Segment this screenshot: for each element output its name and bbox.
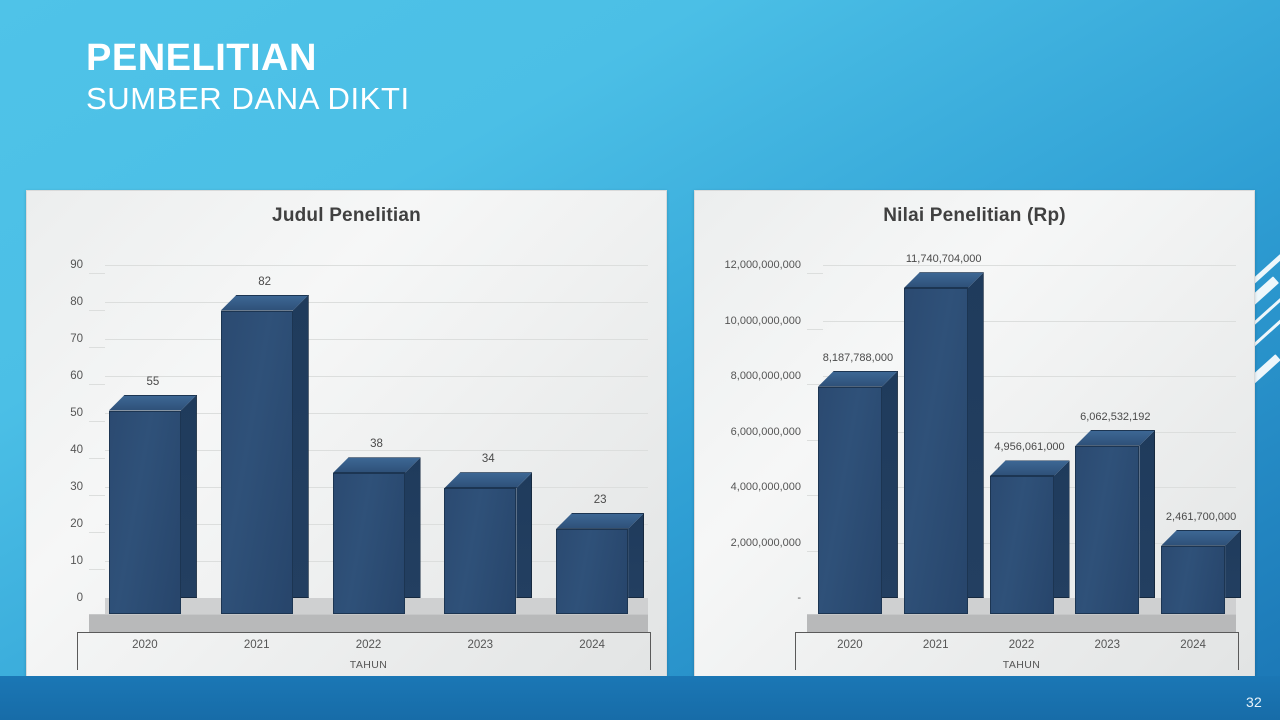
y-axis-tick-label: 4,000,000,000 [731, 481, 801, 493]
bar-front-face [444, 488, 516, 614]
x-axis-title: TAHUN [350, 659, 387, 671]
bar-value-label: 4,956,061,000 [994, 441, 1064, 453]
bar-front-face [556, 529, 628, 614]
y-axis-tick-label: 80 [70, 296, 83, 308]
y-axis-tick-label: 70 [70, 333, 83, 345]
y-axis-tick-label: 10 [70, 555, 83, 567]
x-axis-line [77, 632, 650, 633]
bar-value-label: 23 [594, 494, 607, 506]
gridline [105, 302, 648, 303]
y-axis-tick-label: 30 [70, 481, 83, 493]
gridline-connector [89, 458, 105, 459]
bar-column [556, 513, 644, 614]
slide-title-block: PENELITIAN SUMBER DANA DIKTI [86, 38, 410, 120]
bar-column [818, 371, 898, 614]
gridline-connector [89, 347, 105, 348]
x-axis-tick-label: 2023 [468, 639, 494, 651]
bar-value-label: 55 [146, 376, 159, 388]
x-axis-tick-label: 2021 [923, 639, 949, 651]
y-axis-tick-label: 0 [77, 592, 83, 604]
x-axis-tick-label: 2022 [356, 639, 382, 651]
bar-front-face [818, 387, 882, 614]
gridline-connector [89, 273, 105, 274]
page-subtitle: SUMBER DANA DIKTI [86, 78, 410, 120]
bar-value-label: 11,740,704,000 [906, 253, 982, 265]
slide: PENELITIAN SUMBER DANA DIKTI Judul Penel… [0, 0, 1280, 720]
x-axis-left-tick [77, 632, 78, 670]
bar-value-label: 82 [258, 276, 271, 288]
gridline [105, 339, 648, 340]
bar-value-label: 6,062,532,192 [1080, 411, 1150, 423]
bar-front-face [990, 476, 1054, 614]
y-axis: -2,000,000,0004,000,000,0006,000,000,000… [695, 247, 807, 676]
bar-value-label: 34 [482, 453, 495, 465]
x-axis [695, 614, 1254, 676]
bar-front-face [221, 311, 293, 614]
bottom-band [0, 676, 1280, 720]
x-axis [27, 614, 666, 676]
bar-column [444, 472, 532, 614]
y-axis-tick-label: 90 [70, 259, 83, 271]
x-axis-tick-label: 2024 [579, 639, 605, 651]
y-axis-tick-label: 60 [70, 370, 83, 382]
y-axis-tick-label: 2,000,000,000 [731, 537, 801, 549]
bar-column [990, 460, 1070, 614]
plot-area-right: -2,000,000,0004,000,000,0006,000,000,000… [695, 247, 1254, 676]
y-axis-tick-label: 10,000,000,000 [725, 315, 801, 327]
bar-column [221, 295, 309, 614]
bar-value-label: 38 [370, 438, 383, 450]
y-axis-tick-label: 50 [70, 407, 83, 419]
y-axis-tick-label: 40 [70, 444, 83, 456]
page-number: 32 [1246, 694, 1262, 710]
x-axis-tick-label: 2020 [837, 639, 863, 651]
gridline [105, 265, 648, 266]
bar-side-face [516, 472, 532, 598]
bar-side-face [882, 371, 898, 598]
bar-front-face [1075, 446, 1139, 614]
bar-side-face [1139, 430, 1155, 598]
gridline [823, 321, 1236, 322]
y-axis-tick-label: 6,000,000,000 [731, 426, 801, 438]
bar-front-face [904, 288, 968, 614]
bar-column [1161, 530, 1241, 614]
gridline [823, 265, 1236, 266]
bar-value-label: 2,461,700,000 [1166, 511, 1236, 523]
x-axis-tick-label: 2022 [1009, 639, 1035, 651]
y-axis-tick-label: 20 [70, 518, 83, 530]
bar-column [904, 272, 984, 614]
bar-side-face [1054, 460, 1070, 598]
gridline-connector [89, 421, 105, 422]
bar-column [333, 457, 421, 614]
bar-side-face [293, 295, 309, 598]
x-axis-tick-label: 2020 [132, 639, 158, 651]
x-axis-left-tick [795, 632, 796, 670]
gridline-connector [89, 310, 105, 311]
gridline-connector [89, 495, 105, 496]
chart-panel-nilai-penelitian: Nilai Penelitian (Rp) -2,000,000,0004,00… [694, 190, 1255, 677]
gridline-connector [807, 273, 823, 274]
bar-side-face [181, 395, 197, 599]
chart-panel-judul-penelitian: Judul Penelitian 01020304050607080905582… [26, 190, 667, 677]
gridline-connector [89, 569, 105, 570]
gridline [105, 376, 648, 377]
x-axis-right-tick [650, 632, 651, 670]
chart-title: Judul Penelitian [27, 205, 666, 227]
bar-value-label: 8,187,788,000 [823, 352, 893, 364]
gridline-connector [89, 384, 105, 385]
plot-area-left: 0102030405060708090558238342320202021202… [27, 247, 666, 676]
x-axis-title: TAHUN [1003, 659, 1040, 671]
y-axis-tick-label: - [797, 592, 801, 604]
x-axis-tick-label: 2021 [244, 639, 270, 651]
y-axis-tick-label: 12,000,000,000 [725, 259, 801, 271]
gridline-connector [807, 329, 823, 330]
y-axis-tick-label: 8,000,000,000 [731, 370, 801, 382]
page-title: PENELITIAN [86, 38, 410, 78]
chart-title: Nilai Penelitian (Rp) [695, 205, 1254, 227]
bar-side-face [968, 272, 984, 598]
y-axis: 0102030405060708090 [27, 247, 89, 676]
bar-side-face [405, 457, 421, 598]
bar-front-face [1161, 546, 1225, 614]
x-axis-tick-label: 2023 [1095, 639, 1121, 651]
x-axis-tick-label: 2024 [1180, 639, 1206, 651]
x-axis-right-tick [1238, 632, 1239, 670]
bar-column [1075, 430, 1155, 614]
gridline-connector [89, 532, 105, 533]
bar-front-face [333, 473, 405, 614]
bar-column [109, 395, 197, 615]
x-axis-line [795, 632, 1238, 633]
bar-front-face [109, 411, 181, 615]
